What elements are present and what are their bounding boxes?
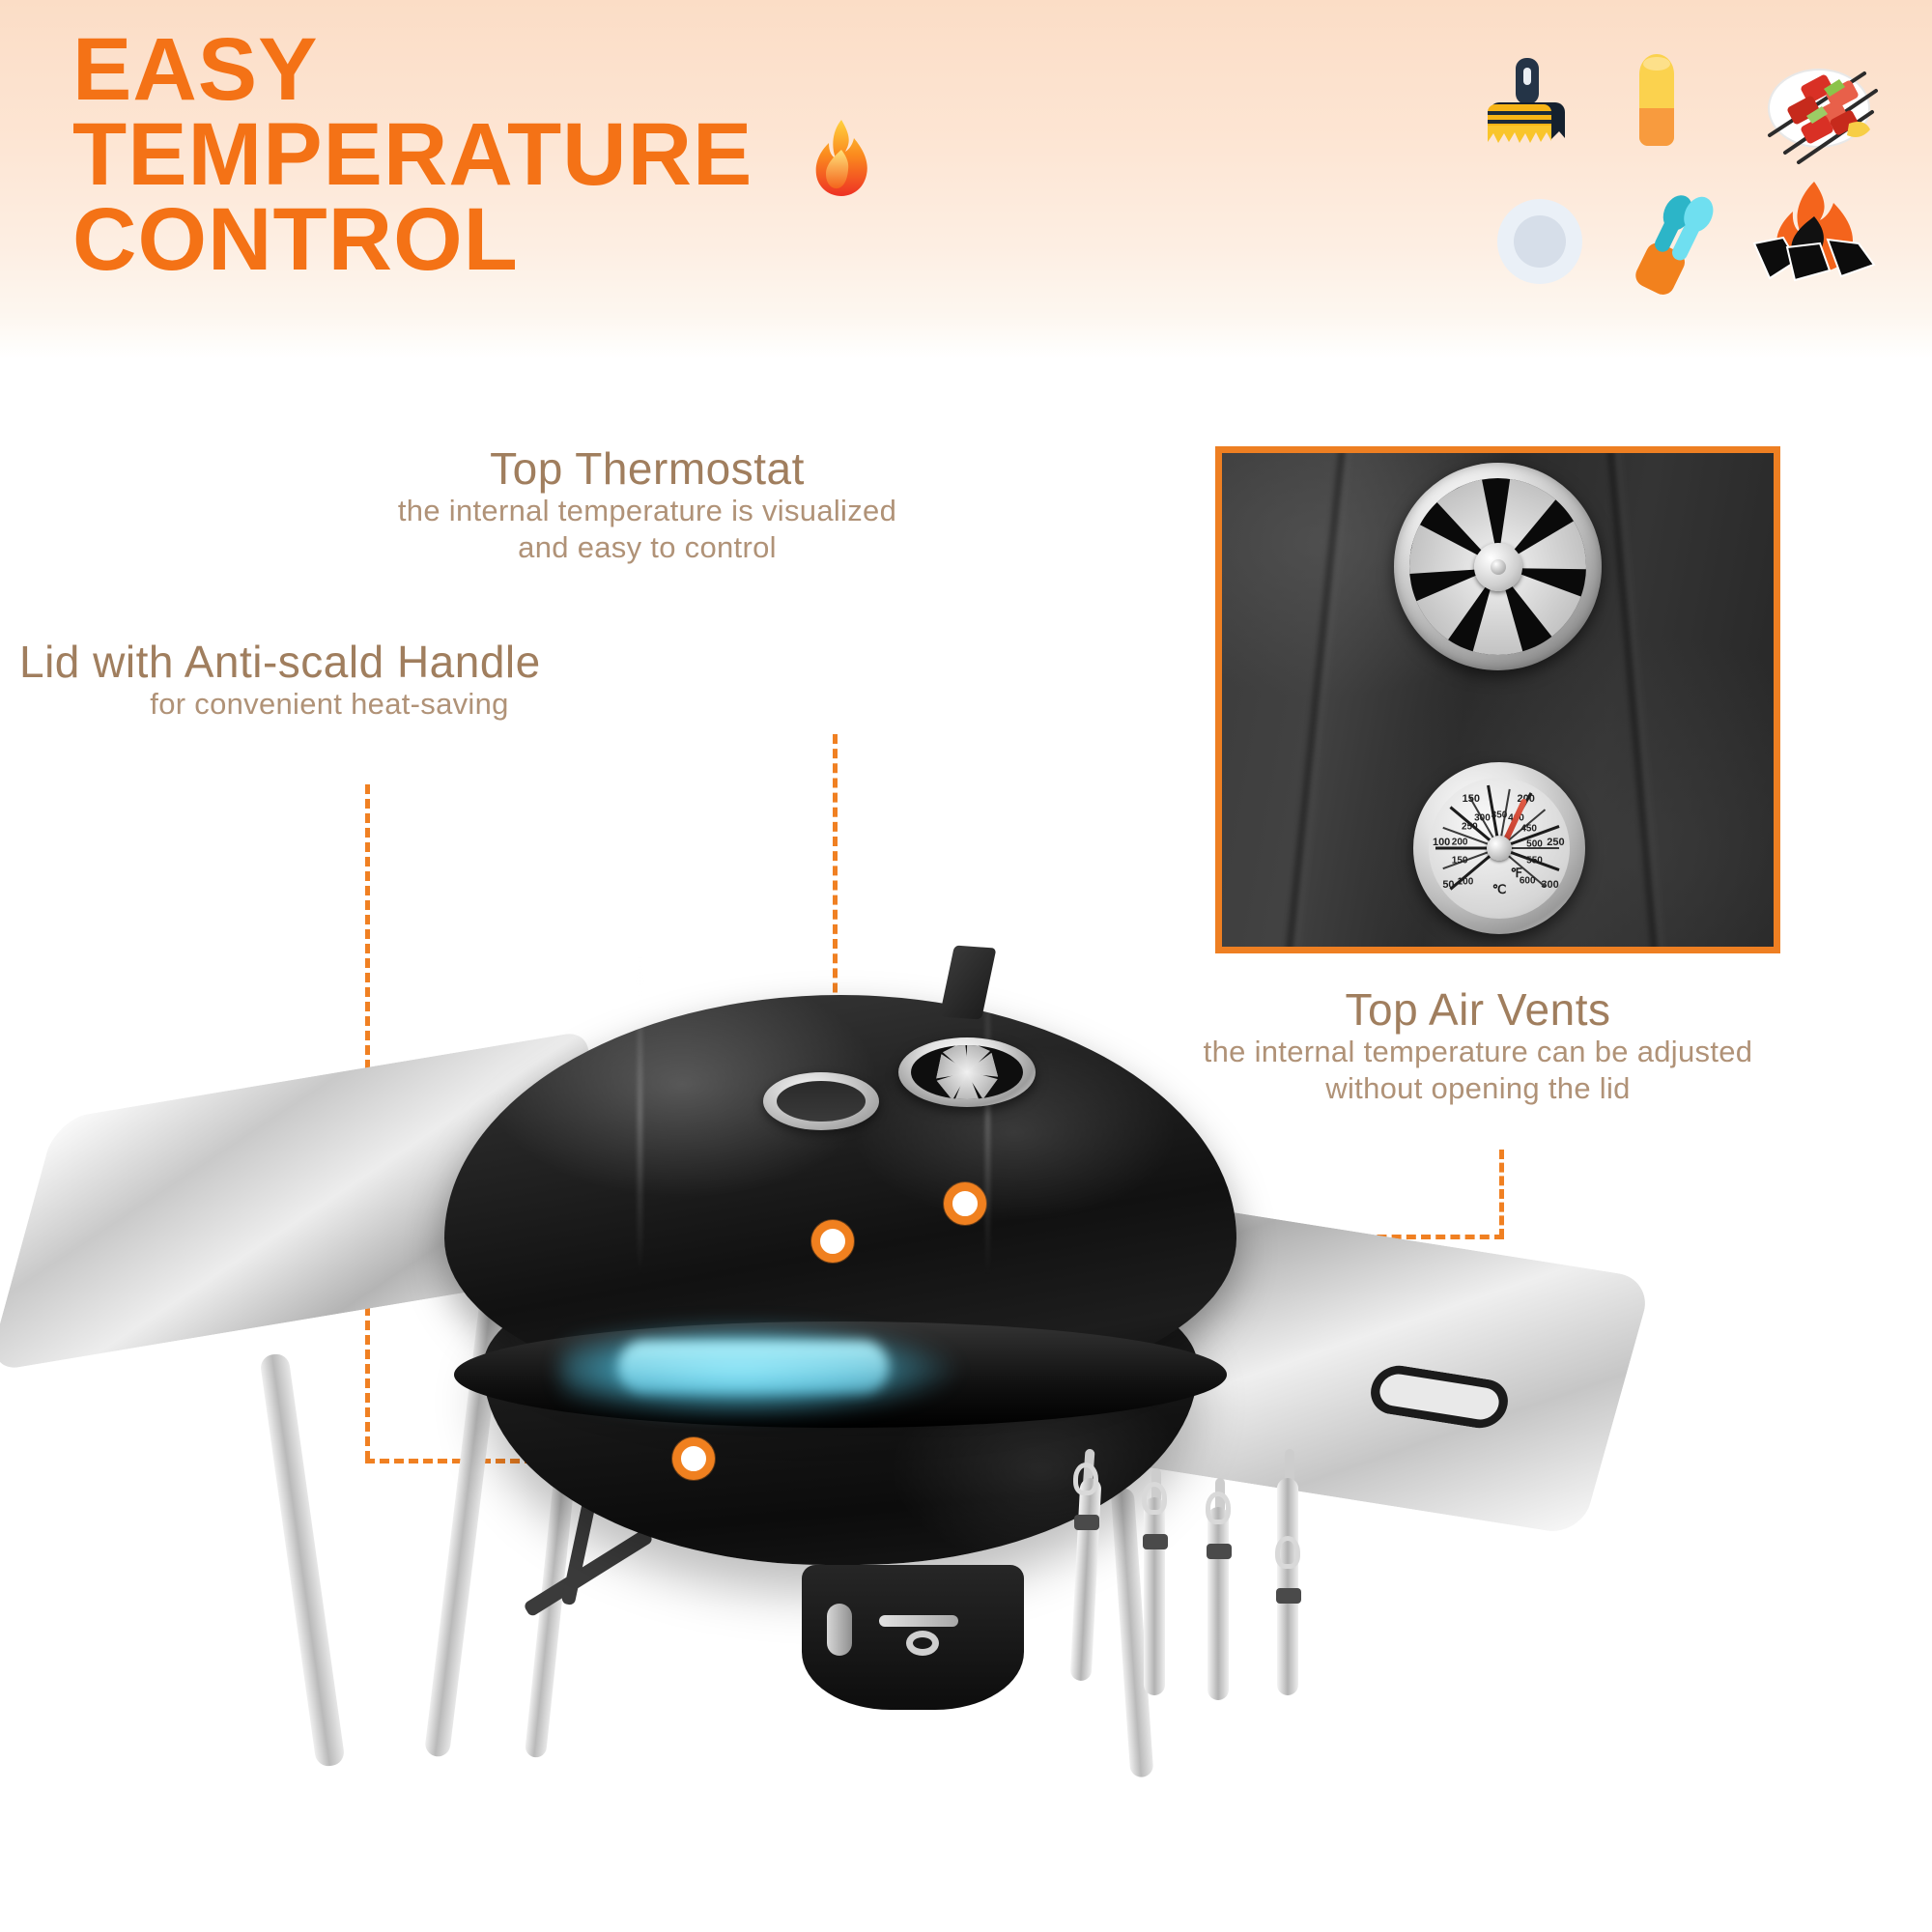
title-line-2-wrap: TEMPERATURE [72,112,942,197]
ash-damper-knob [827,1604,852,1656]
therm-c-300: 300 [1541,879,1558,891]
seasoning-shaker-icon [1634,52,1679,154]
thermometer-unit-celsius: ℃ [1492,882,1507,897]
hanging-tool-4-ring [1275,1536,1300,1569]
therm-f-300: 300 [1474,813,1491,824]
therm-f-550: 550 [1526,856,1543,867]
flame-emoji [806,117,877,198]
anti-scald-handle-core [618,1341,889,1393]
grill-brace-left [523,1527,654,1617]
lid-seam-1 [638,956,642,1275]
callout-dot-lid-handle[interactable] [672,1437,715,1480]
callout-air-vents-title: Top Air Vents [1053,985,1903,1034]
air-vent-screw [1491,559,1506,575]
hanging-tool-4 [1277,1478,1298,1695]
lid-air-vent-opening [911,1045,1023,1099]
hanging-tool-4-band [1276,1588,1301,1604]
inset-photo-vent-thermometer: 50 100 150 200 250 300 100 150 200 250 3… [1215,446,1780,953]
hanging-tool-3-ring [1206,1492,1231,1524]
therm-f-100: 100 [1458,877,1474,888]
callout-dot-thermostat[interactable] [811,1220,854,1263]
basting-brush-icon [1488,54,1567,159]
therm-f-150: 150 [1452,856,1468,867]
title-line-3: CONTROL [72,197,942,282]
lid-thermostat-mount [763,1072,879,1130]
thermometer-unit-fahrenheit: ℉ [1511,866,1522,881]
therm-f-500: 500 [1526,838,1543,849]
kebab-plate-icon [1756,56,1882,169]
therm-c-250: 250 [1547,837,1564,848]
thermometer-dial-face: 50 100 150 200 250 300 100 150 200 250 3… [1429,778,1570,919]
hanging-tool-3 [1207,1507,1229,1700]
ash-damper-ring [906,1631,939,1656]
lid-seam-2 [985,956,990,1275]
callout-lid-handle-title: Lid with Anti-scald Handle [19,638,618,686]
lid-thermostat-opening [777,1081,866,1122]
callout-thermostat: Top Thermostat the internal temperature … [338,444,956,566]
infographic-canvas: EASY TEMPERATURE [0,0,1932,1932]
callout-dot-air-vents[interactable] [944,1182,986,1225]
therm-f-450: 450 [1520,823,1537,834]
grill-tongs-icon [1625,182,1725,304]
callout-thermostat-sub-2: and easy to control [338,529,956,566]
callout-lid-handle: Lid with Anti-scald Handle for convenien… [19,638,618,723]
therm-c-150: 150 [1463,793,1480,805]
campfire-icon [1748,180,1880,291]
plate-icon [1495,197,1584,291]
hanging-tool-2-ring [1142,1482,1167,1515]
closeup-thermometer: 50 100 150 200 250 300 100 150 200 250 3… [1413,762,1585,934]
decor-icon-grid [1459,46,1913,298]
callout-thermostat-title: Top Thermostat [338,444,956,493]
hanging-tool-1-ring [1073,1463,1098,1495]
closeup-air-vent [1394,463,1602,670]
ash-damper-lever [879,1615,958,1627]
callout-lid-handle-sub-1: for convenient heat-saving [19,686,618,723]
hanging-tool-3-band [1207,1544,1232,1559]
hanging-tool-1-band [1074,1515,1099,1530]
page-title: EASY TEMPERATURE [72,27,942,282]
hanging-tool-2 [1144,1497,1165,1695]
title-line-2: TEMPERATURE [72,105,753,204]
callout-thermostat-sub-1: the internal temperature is visualized [338,493,956,529]
therm-c-50: 50 [1442,879,1454,891]
title-line-1: EASY [72,27,942,112]
thermometer-hub [1487,836,1512,861]
grill-leg-left-outer [259,1352,346,1768]
therm-f-200: 200 [1452,838,1468,848]
therm-f-350: 350 [1492,810,1508,821]
therm-c-100: 100 [1433,837,1450,848]
hanging-tool-2-band [1143,1534,1168,1549]
lid-air-vent [898,1037,1036,1107]
